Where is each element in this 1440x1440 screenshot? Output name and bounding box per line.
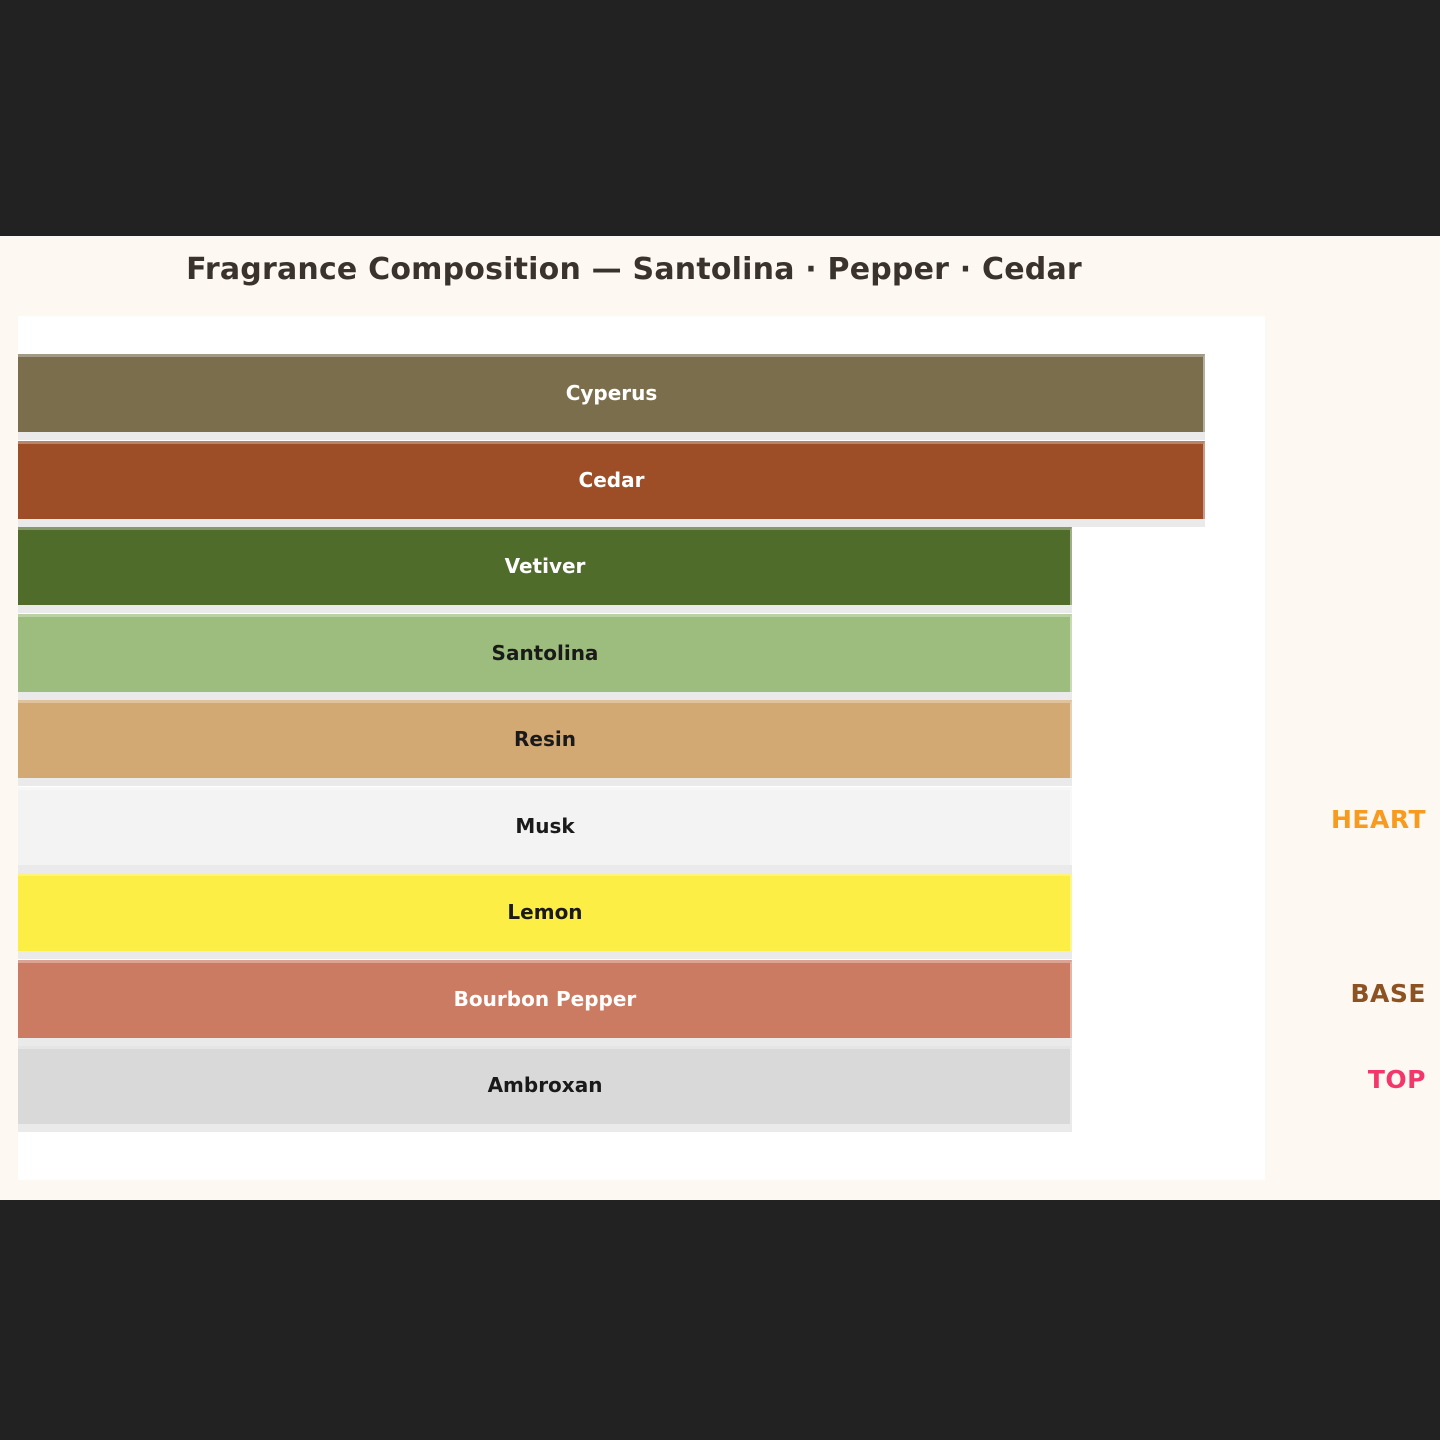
bar-santolina[interactable] bbox=[18, 614, 1072, 692]
bar-ambroxan[interactable] bbox=[18, 1046, 1072, 1124]
bar-musk[interactable] bbox=[18, 787, 1072, 865]
group-label-heart: HEART bbox=[1331, 805, 1426, 834]
letterbox-top bbox=[0, 0, 1440, 236]
bar-vetiver[interactable] bbox=[18, 527, 1072, 605]
bar-bourbon-pepper[interactable] bbox=[18, 960, 1072, 1038]
figure-area: Fragrance Composition — Santolina · Pepp… bbox=[0, 236, 1440, 1200]
bar-resin[interactable] bbox=[18, 700, 1072, 778]
group-label-base: BASE bbox=[1351, 979, 1427, 1008]
screen-root: Fragrance Composition — Santolina · Pepp… bbox=[0, 0, 1440, 1440]
plot-card: CyperusCedarVetiverSantolinaResinMuskLem… bbox=[18, 316, 1265, 1180]
bar-lemon[interactable] bbox=[18, 873, 1072, 951]
bar-cyperus[interactable] bbox=[18, 354, 1205, 432]
letterbox-bottom bbox=[0, 1200, 1440, 1440]
group-label-top: TOP bbox=[1368, 1065, 1426, 1094]
page-title: Fragrance Composition — Santolina · Pepp… bbox=[0, 252, 1268, 287]
bar-cedar[interactable] bbox=[18, 441, 1205, 519]
